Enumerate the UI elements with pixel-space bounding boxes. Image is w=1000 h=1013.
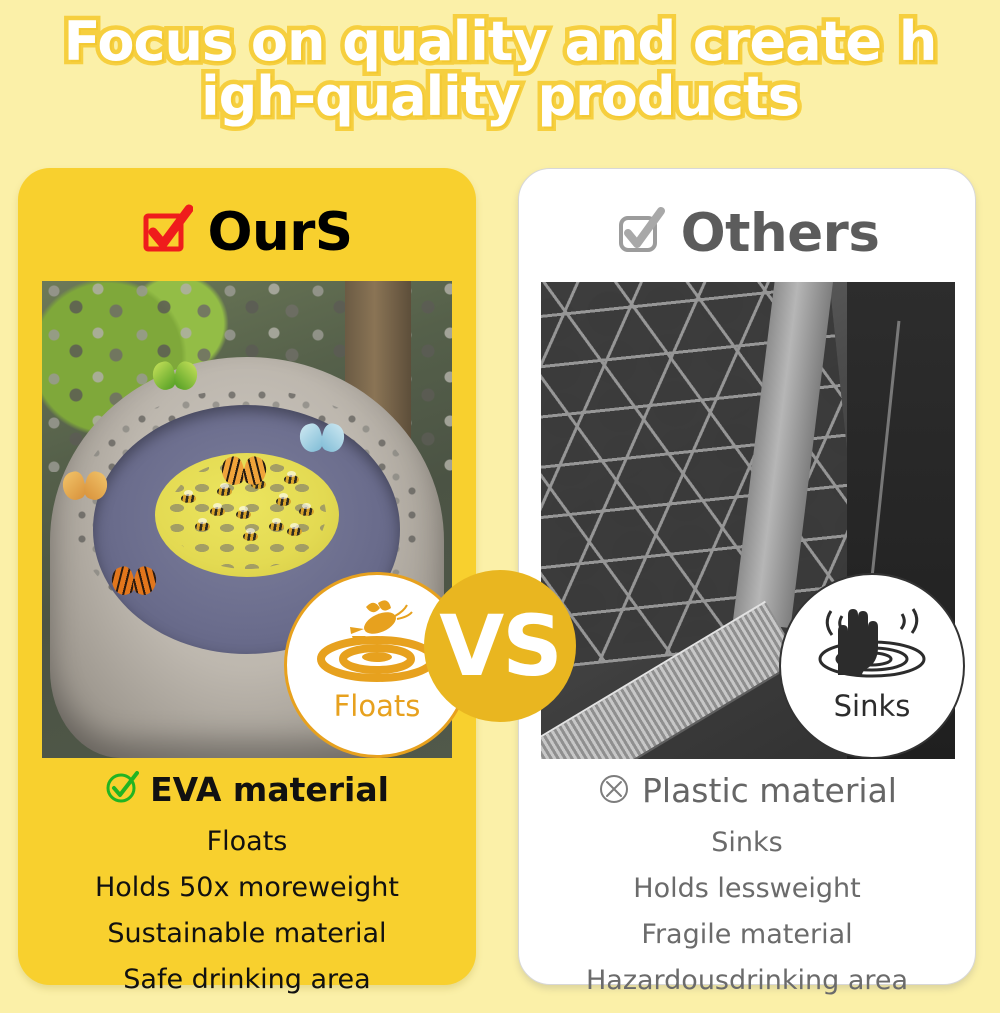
bee — [181, 494, 196, 503]
ours-card-header: OurS — [18, 192, 476, 272]
comparison-container: OurS — [0, 168, 1000, 988]
others-card-title: Others — [681, 207, 880, 260]
butterfly-monarch — [112, 567, 156, 597]
bee — [236, 510, 251, 519]
sinks-badge-label: Sinks — [834, 692, 911, 721]
checkbox-checked-icon — [615, 205, 667, 262]
bee-over-ripples-icon — [314, 597, 440, 688]
list-item: Sinks — [533, 829, 961, 856]
others-material-label: Plastic material — [642, 774, 897, 807]
list-item: Sustainable material — [32, 920, 462, 947]
butterfly-green — [153, 362, 197, 392]
page-title: Focus on quality and create h igh-qualit… — [0, 14, 1000, 124]
butterfly-blue — [300, 424, 344, 454]
x-circle-icon — [597, 771, 631, 810]
list-item: Safe drinking area — [32, 966, 462, 993]
ours-card-title: OurS — [207, 206, 352, 259]
butterfly-spotted — [222, 457, 266, 487]
ours-feature-list: EVA material Floats Holds 50x moreweight… — [18, 770, 476, 1012]
vs-badge: VS — [424, 570, 576, 722]
others-card: Others — [518, 168, 976, 985]
check-circle-icon — [105, 770, 139, 809]
checkbox-checked-icon — [141, 204, 193, 261]
list-item: Fragile material — [533, 921, 961, 948]
page-title-line-1: Focus on quality and create h — [0, 14, 1000, 69]
others-feature-list: Plastic material Sinks Holds lessweight … — [519, 771, 975, 1013]
list-item: Hazardousdrinking area — [533, 967, 961, 994]
vs-label: VS — [439, 604, 561, 688]
sinks-badge: Sinks — [779, 573, 965, 759]
list-item: Floats — [32, 828, 462, 855]
page-title-line-2: igh-quality products — [0, 69, 1000, 124]
others-card-header: Others — [519, 193, 975, 273]
hand-sinking-in-ripples-icon — [809, 597, 935, 688]
butterfly-orange — [63, 472, 107, 502]
bee — [299, 507, 314, 516]
list-item: Holds 50x moreweight — [32, 874, 462, 901]
ours-card: OurS — [18, 168, 476, 985]
ours-material-heading: EVA material — [32, 770, 462, 809]
bee — [284, 475, 299, 484]
floats-badge-label: Floats — [334, 692, 421, 721]
others-material-heading: Plastic material — [533, 771, 961, 810]
list-item: Holds lessweight — [533, 875, 961, 902]
ours-material-label: EVA material — [150, 773, 389, 806]
